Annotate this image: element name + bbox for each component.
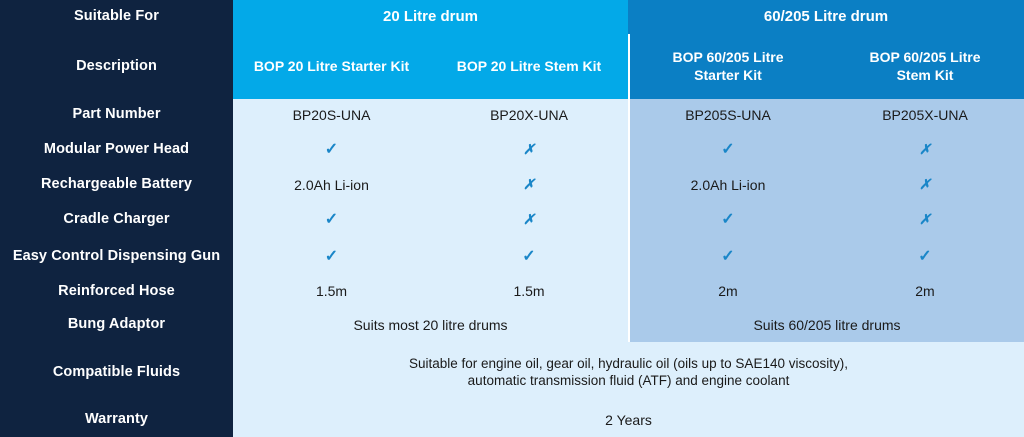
cell-cradle-charger-1: ✗ — [430, 202, 628, 239]
part-number-bop-20-starter: BP20S-UNA — [233, 99, 430, 132]
table-row: Bung Adaptor Suits most 20 litre drums S… — [0, 308, 1024, 341]
cell-rechargeable-battery-0: 2.0Ah Li-ion — [233, 169, 430, 202]
hose-value: 1.5m — [316, 283, 347, 299]
cell-cradle-charger-2: ✓ — [628, 202, 826, 239]
row-label-cradle-charger: Cradle Charger — [0, 202, 233, 239]
product-name-bop-20-starter: BOP 20 Litre Starter Kit — [233, 34, 430, 98]
cross-icon: ✗ — [919, 211, 931, 228]
check-icon: ✓ — [721, 247, 734, 267]
cell-reinforced-hose-1: 1.5m — [430, 275, 628, 308]
row-label-modular-power-head: Modular Power Head — [0, 132, 233, 169]
cell-modular-power-head-1: ✗ — [430, 132, 628, 169]
cell-cradle-charger-3: ✗ — [826, 202, 1024, 239]
part-number-bop-20-stem: BP20X-UNA — [430, 99, 628, 132]
check-icon: ✓ — [325, 210, 338, 230]
product-name-bop-60205-starter: BOP 60/205 Litre Starter Kit — [628, 34, 826, 98]
row-label-easy-control-dispensing-gun: Easy Control Dispensing Gun — [0, 239, 233, 276]
cell-rechargeable-battery-1: ✗ — [430, 169, 628, 202]
part-number-bop-60205-starter: BP205S-UNA — [628, 99, 826, 132]
table-row: Cradle Charger ✓ ✗ ✓ ✗ — [0, 202, 1024, 239]
group-header-20-litre: 20 Litre drum — [233, 0, 628, 34]
check-icon: ✓ — [721, 210, 734, 230]
table-row: Description BOP 20 Litre Starter Kit BOP… — [0, 34, 1024, 98]
cell-reinforced-hose-3: 2m — [826, 275, 1024, 308]
cell-dispensing-gun-3: ✓ — [826, 239, 1024, 276]
check-icon: ✓ — [721, 140, 734, 160]
cross-icon: ✗ — [523, 141, 535, 158]
group-header-60-205-litre: 60/205 Litre drum — [628, 0, 1024, 34]
row-label-bung-adaptor: Bung Adaptor — [0, 308, 233, 341]
battery-value: 2.0Ah Li-ion — [691, 177, 766, 193]
table-row: Warranty 2 Years — [0, 404, 1024, 437]
product-name-bop-60205-stem: BOP 60/205 Litre Stem Kit — [826, 34, 1024, 98]
row-label-rechargeable-battery: Rechargeable Battery — [0, 169, 233, 202]
hose-value: 2m — [915, 283, 934, 299]
cell-warranty: 2 Years — [233, 404, 1024, 437]
cross-icon: ✗ — [523, 211, 535, 228]
product-name-bop-20-stem: BOP 20 Litre Stem Kit — [430, 34, 628, 98]
cell-modular-power-head-0: ✓ — [233, 132, 430, 169]
row-label-warranty: Warranty — [0, 404, 233, 437]
cross-icon: ✗ — [919, 176, 931, 193]
cell-dispensing-gun-0: ✓ — [233, 239, 430, 276]
cell-dispensing-gun-2: ✓ — [628, 239, 826, 276]
battery-value: 2.0Ah Li-ion — [294, 177, 369, 193]
row-label-suitable-for: Suitable For — [0, 0, 233, 34]
table-row: Suitable For 20 Litre drum 60/205 Litre … — [0, 0, 1024, 34]
product-comparison-table: Suitable For 20 Litre drum 60/205 Litre … — [0, 0, 1024, 437]
check-icon: ✓ — [522, 247, 535, 267]
table-row: Easy Control Dispensing Gun ✓ ✓ ✓ ✓ — [0, 239, 1024, 276]
cell-compatible-fluids: Suitable for engine oil, gear oil, hydra… — [233, 342, 1024, 404]
cell-reinforced-hose-2: 2m — [628, 275, 826, 308]
cell-cradle-charger-0: ✓ — [233, 202, 430, 239]
cross-icon: ✗ — [919, 141, 931, 158]
comparison-grid: Suitable For 20 Litre drum 60/205 Litre … — [0, 0, 1024, 437]
row-label-compatible-fluids: Compatible Fluids — [0, 342, 233, 404]
table-row: Modular Power Head ✓ ✗ ✓ ✗ — [0, 132, 1024, 169]
table-row: Compatible Fluids Suitable for engine oi… — [0, 342, 1024, 404]
hose-value: 1.5m — [513, 283, 544, 299]
cell-rechargeable-battery-3: ✗ — [826, 169, 1024, 202]
row-label-reinforced-hose: Reinforced Hose — [0, 275, 233, 308]
cross-icon: ✗ — [523, 176, 535, 193]
check-icon: ✓ — [325, 247, 338, 267]
row-label-part-number: Part Number — [0, 99, 233, 132]
table-row: Rechargeable Battery 2.0Ah Li-ion ✗ 2.0A… — [0, 169, 1024, 202]
hose-value: 2m — [718, 283, 737, 299]
cell-rechargeable-battery-2: 2.0Ah Li-ion — [628, 169, 826, 202]
part-number-bop-60205-stem: BP205X-UNA — [826, 99, 1024, 132]
cell-bung-adaptor-60205: Suits 60/205 litre drums — [628, 308, 1024, 341]
table-row: Reinforced Hose 1.5m 1.5m 2m 2m — [0, 275, 1024, 308]
cell-bung-adaptor-20: Suits most 20 litre drums — [233, 308, 628, 341]
check-icon: ✓ — [918, 247, 931, 267]
cell-modular-power-head-2: ✓ — [628, 132, 826, 169]
cell-modular-power-head-3: ✗ — [826, 132, 1024, 169]
table-row: Part Number BP20S-UNA BP20X-UNA BP205S-U… — [0, 99, 1024, 132]
cell-reinforced-hose-0: 1.5m — [233, 275, 430, 308]
check-icon: ✓ — [325, 140, 338, 160]
row-label-description: Description — [0, 34, 233, 98]
cell-dispensing-gun-1: ✓ — [430, 239, 628, 276]
